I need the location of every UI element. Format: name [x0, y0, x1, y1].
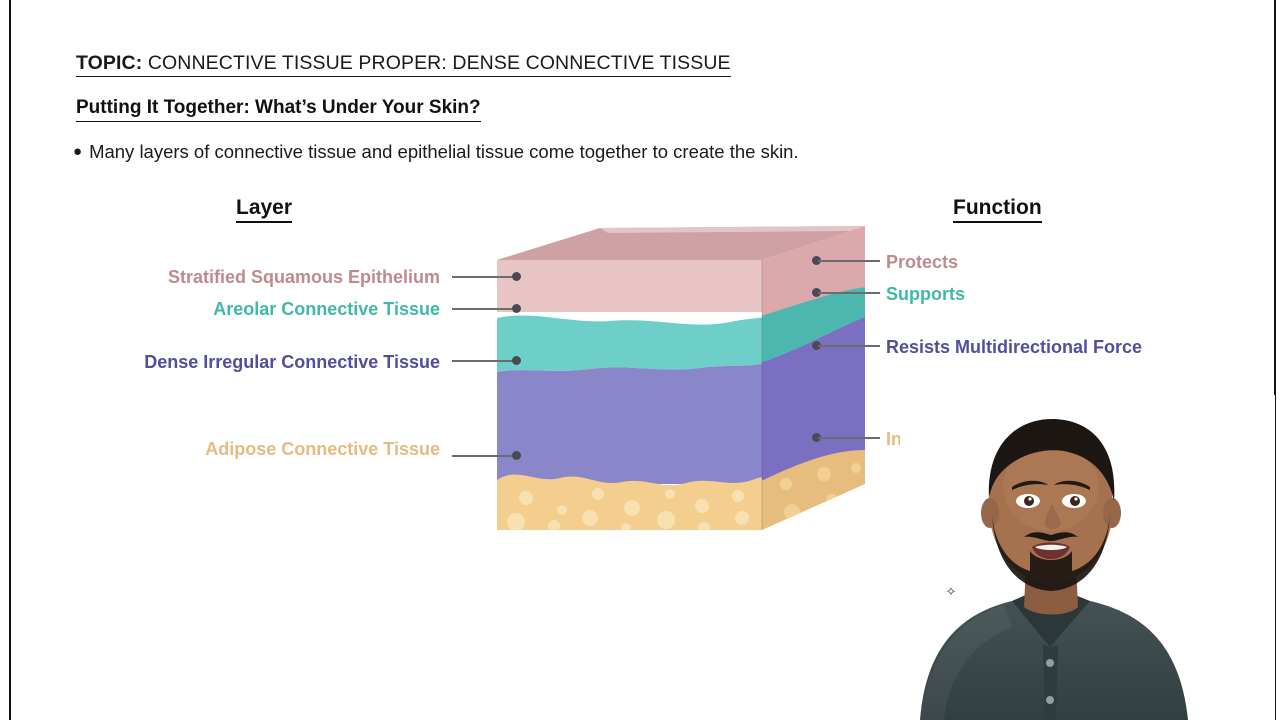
leader-line-supports [818, 292, 880, 294]
leader-line-epithelium [452, 276, 514, 278]
leader-line-dense-irregular [452, 360, 514, 362]
label-adipose-connective-tissue: Adipose Connective Tissue [60, 438, 440, 460]
block-front-face [480, 252, 780, 542]
leader-dot-dense-irregular [512, 356, 521, 365]
function-resists-multidirectional-force: Resists Multidirectional Force [886, 336, 1142, 358]
leader-dot-adipose [512, 451, 521, 460]
topic-value: CONNECTIVE TISSUE PROPER: DENSE CONNECTI… [142, 52, 730, 74]
bullet-point: ●Many layers of connective tissue and ep… [73, 140, 799, 164]
block-side-face [755, 222, 875, 542]
label-dense-irregular-connective-tissue: Dense Irregular Connective Tissue [60, 351, 440, 373]
shirt-button [1046, 696, 1054, 704]
leader-dot-epithelium [512, 272, 521, 281]
section-subheading: Putting It Together: What’s Under Your S… [76, 97, 481, 122]
function-supports: Supports [886, 283, 965, 305]
leader-dot-areolar [512, 304, 521, 313]
presenter-video-overlay [900, 395, 1275, 720]
label-stratified-squamous-epithelium: Stratified Squamous Epithelium [60, 266, 440, 288]
presenter-eye [1070, 496, 1080, 506]
presenter-eye [1024, 496, 1034, 506]
topic-heading: TOPIC: CONNECTIVE TISSUE PROPER: DENSE C… [76, 52, 731, 77]
leader-line-adipose [452, 455, 514, 457]
topic-label: TOPIC: [76, 52, 142, 74]
function-protects: Protects [886, 251, 958, 273]
column-header-function: Function [953, 196, 1042, 223]
skin-cross-section-diagram [480, 222, 880, 542]
cursor-sparkle-icon: ✧ [944, 585, 958, 599]
bullet-text: Many layers of connective tissue and epi… [89, 141, 799, 162]
label-areolar-connective-tissue: Areolar Connective Tissue [60, 298, 440, 320]
slide-left-border [9, 0, 11, 720]
slide-canvas: TOPIC: CONNECTIVE TISSUE PROPER: DENSE C… [0, 0, 1280, 720]
column-header-layer: Layer [236, 196, 292, 223]
shirt-button [1046, 659, 1054, 667]
leader-line-areolar [452, 308, 514, 310]
leader-line-protects [818, 260, 880, 262]
bullet-marker-icon: ● [73, 140, 82, 164]
leader-line-resists-force [818, 345, 880, 347]
leader-line-insulates [818, 437, 880, 439]
